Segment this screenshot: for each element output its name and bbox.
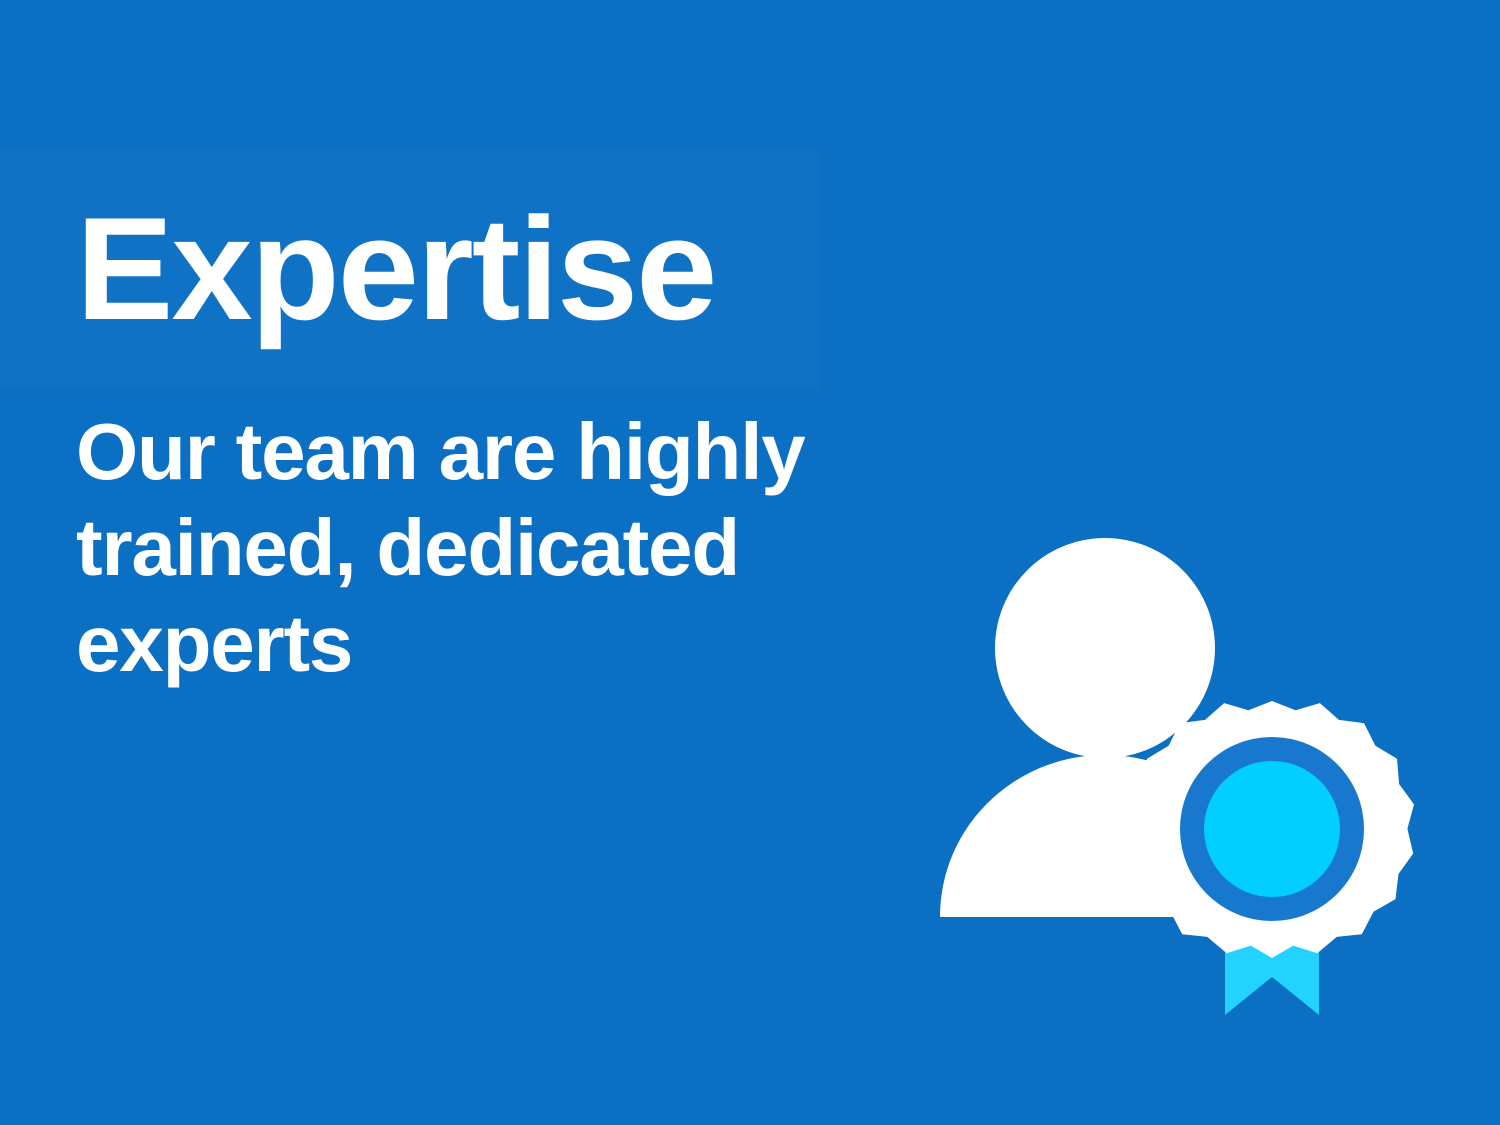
award-badge-icon [1130,701,1414,958]
text-block: Expertise Our team are highly trained, d… [76,196,956,692]
subheading: Our team are highly trained, dedicated e… [76,404,956,692]
subheading-line-2: trained, dedicated [76,500,956,596]
badge-center-shape [1204,761,1340,897]
subheading-line-3: experts [76,596,956,692]
page-title: Expertise [76,196,956,342]
subheading-line-1: Our team are highly [76,404,956,500]
slide-canvas: Expertise Our team are highly trained, d… [0,0,1500,1125]
expert-person-award-badge-icon [920,515,1420,1045]
